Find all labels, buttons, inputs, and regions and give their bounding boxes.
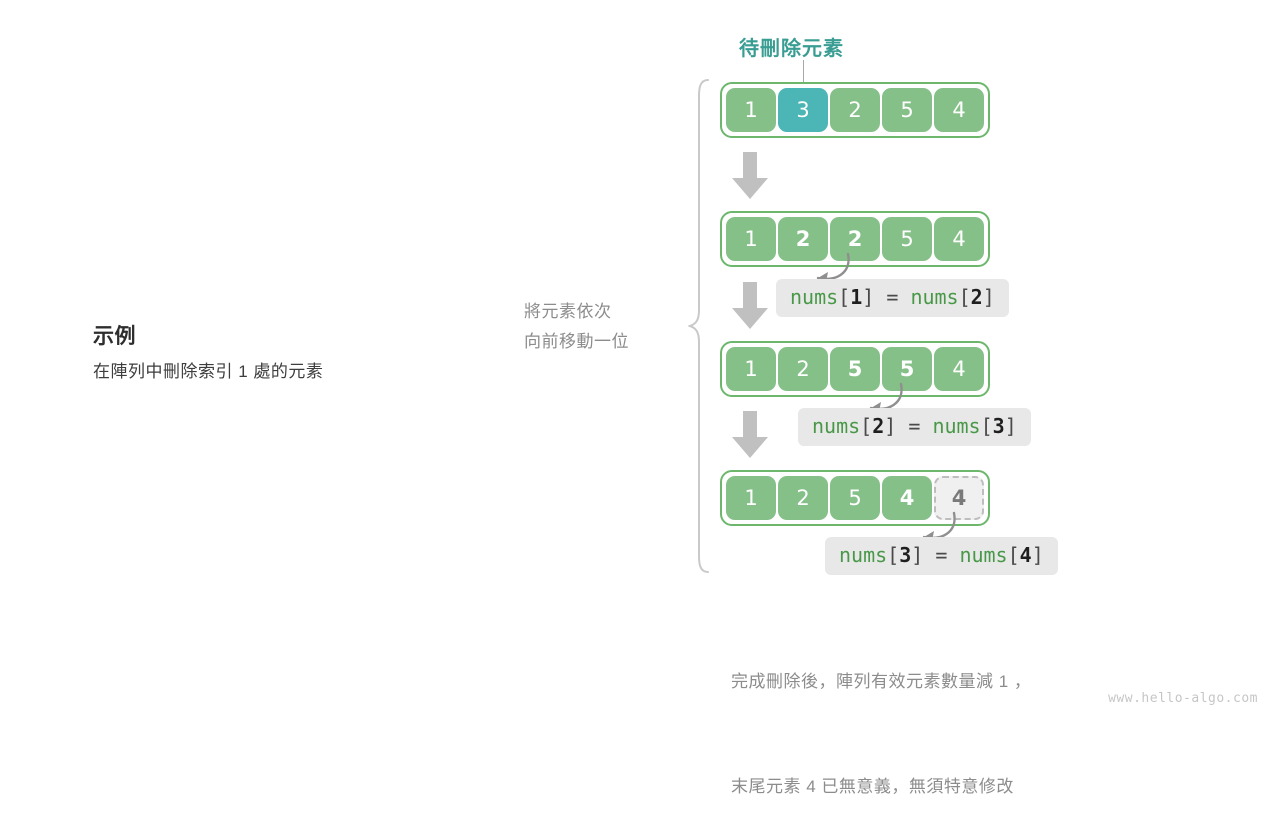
array-cell: 3 — [778, 88, 828, 132]
array-cell: 2 — [830, 88, 880, 132]
delete-target-label: 待刪除元素 — [739, 32, 844, 61]
code-token: = — [896, 414, 932, 438]
code-token: [ — [838, 285, 850, 309]
shift-elements-note: 將元素依次 向前移動一位 — [524, 297, 684, 357]
example-caption: 示例 在陣列中刪除索引 1 處的元素 — [93, 322, 493, 386]
code-token: 1 — [850, 285, 862, 309]
example-subtitle: 在陣列中刪除索引 1 處的元素 — [93, 358, 493, 386]
code-token: [ — [959, 285, 971, 309]
code-token: ] — [884, 414, 896, 438]
code-token: nums — [932, 414, 980, 438]
array-cell: 1 — [726, 88, 776, 132]
code-token: ] — [862, 285, 874, 309]
array-cell: 1 — [726, 217, 776, 261]
code-token: nums — [812, 414, 860, 438]
code-token: nums — [790, 285, 838, 309]
array-initial: 13254 — [720, 82, 990, 138]
array-cell: 4 — [934, 347, 984, 391]
code-assign-3: nums[3] = nums[4] — [825, 537, 1058, 575]
bottom-caption: 完成刪除後，陣列有效元素數量減 1 ， 末尾元素 4 已無意義，無須特意修改 — [731, 594, 1201, 839]
code-token: = — [874, 285, 910, 309]
code-token: 3 — [899, 543, 911, 567]
code-token: ] — [1032, 543, 1044, 567]
code-token: = — [923, 543, 959, 567]
shift-note-line-1: 將元素依次 — [524, 297, 684, 327]
code-token: 3 — [993, 414, 1005, 438]
code-assign-2: nums[2] = nums[3] — [798, 408, 1031, 446]
code-token: ] — [911, 543, 923, 567]
shift-note-line-2: 向前移動一位 — [524, 327, 684, 357]
code-token: ] — [1005, 414, 1017, 438]
array-cell: 5 — [882, 88, 932, 132]
code-token: nums — [910, 285, 958, 309]
down-arrow-icon — [731, 411, 769, 464]
array-cell: 2 — [778, 476, 828, 520]
down-arrow-icon — [731, 282, 769, 335]
code-token: nums — [839, 543, 887, 567]
array-cell: 2 — [778, 347, 828, 391]
code-token: [ — [981, 414, 993, 438]
array-cell: 5 — [830, 476, 880, 520]
bottom-caption-line-2: 末尾元素 4 已無意義，無須特意修改 — [731, 769, 1201, 804]
code-token: [ — [860, 414, 872, 438]
watermark: www.hello-algo.com — [1108, 691, 1258, 706]
code-token: ] — [983, 285, 995, 309]
grouping-brace — [688, 78, 714, 579]
code-token: [ — [1008, 543, 1020, 567]
code-token: [ — [887, 543, 899, 567]
array-step-1: 12254 — [720, 211, 990, 267]
code-token: nums — [959, 543, 1007, 567]
array-cell: 1 — [726, 347, 776, 391]
code-token: 4 — [1020, 543, 1032, 567]
code-assign-1: nums[1] = nums[2] — [776, 279, 1009, 317]
example-title: 示例 — [93, 322, 493, 352]
array-cell: 1 — [726, 476, 776, 520]
array-cell: 5 — [882, 217, 932, 261]
down-arrow-icon — [731, 152, 769, 205]
code-token: 2 — [872, 414, 884, 438]
array-cell: 4 — [934, 217, 984, 261]
code-token: 2 — [971, 285, 983, 309]
array-cell: 4 — [934, 88, 984, 132]
